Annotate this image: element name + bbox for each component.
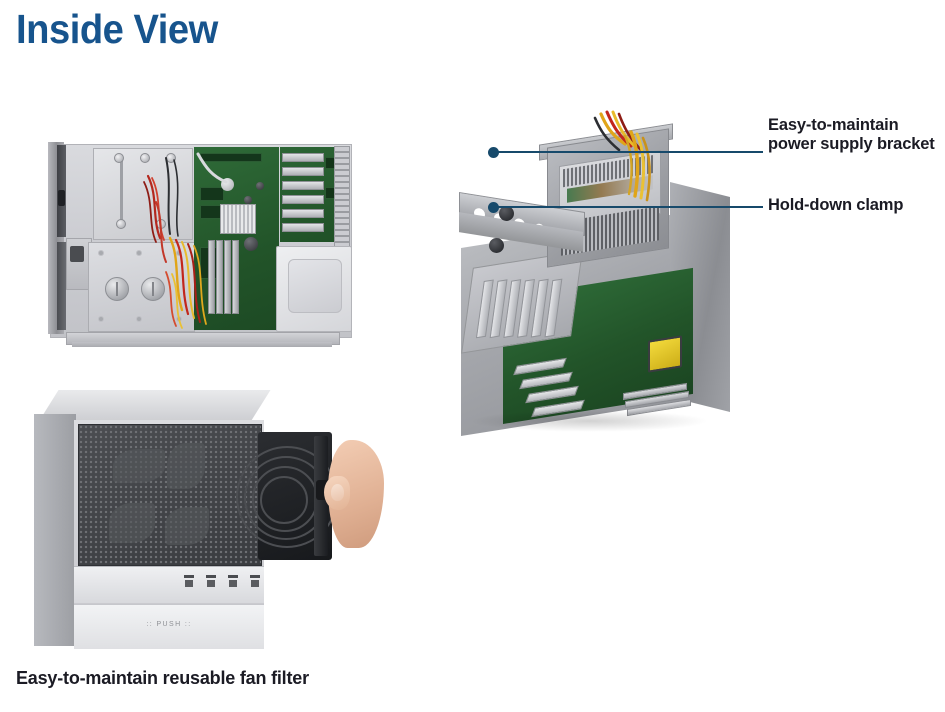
fan-mesh-grille: [78, 424, 262, 566]
figure-top-down-chassis-interior: [48, 142, 353, 353]
fan-blade: [167, 443, 205, 489]
page-title: Inside View: [16, 6, 218, 52]
callout-label-hold-down-clamp: Hold-down clamp: [768, 196, 945, 215]
push-label: :: PUSH ::: [74, 621, 264, 628]
fan-blade: [165, 507, 209, 545]
callout-label-power-supply-bracket: Easy-to-maintain power supply bracket: [768, 116, 945, 154]
tower-side-panel: [34, 414, 76, 646]
reset-button-icon[interactable]: [250, 575, 260, 587]
photo-shadow: [469, 410, 709, 432]
push-bezel-door[interactable]: :: PUSH ::: [74, 604, 264, 649]
chassis-front-lip-edge: [72, 342, 332, 347]
power-led-icon: [184, 575, 194, 587]
callout-leader-power-supply-bracket: [493, 151, 763, 153]
hdd-activity-icon: [228, 575, 238, 587]
callout-leader-hold-down-clamp: [493, 206, 763, 208]
front-control-panel: [74, 566, 264, 603]
figure-angled-chassis-interior: [455, 110, 740, 440]
fan-status-icon: [206, 575, 216, 587]
figure-tower-fan-filter: :: PUSH ::: [24, 388, 384, 650]
figure-caption-fan-filter: Easy-to-maintain reusable fan filter: [16, 668, 309, 689]
fan-blade: [113, 449, 165, 483]
inside-view-page: Inside View: [0, 0, 945, 712]
thumbnail: [331, 484, 344, 501]
fan-blade: [109, 503, 155, 543]
